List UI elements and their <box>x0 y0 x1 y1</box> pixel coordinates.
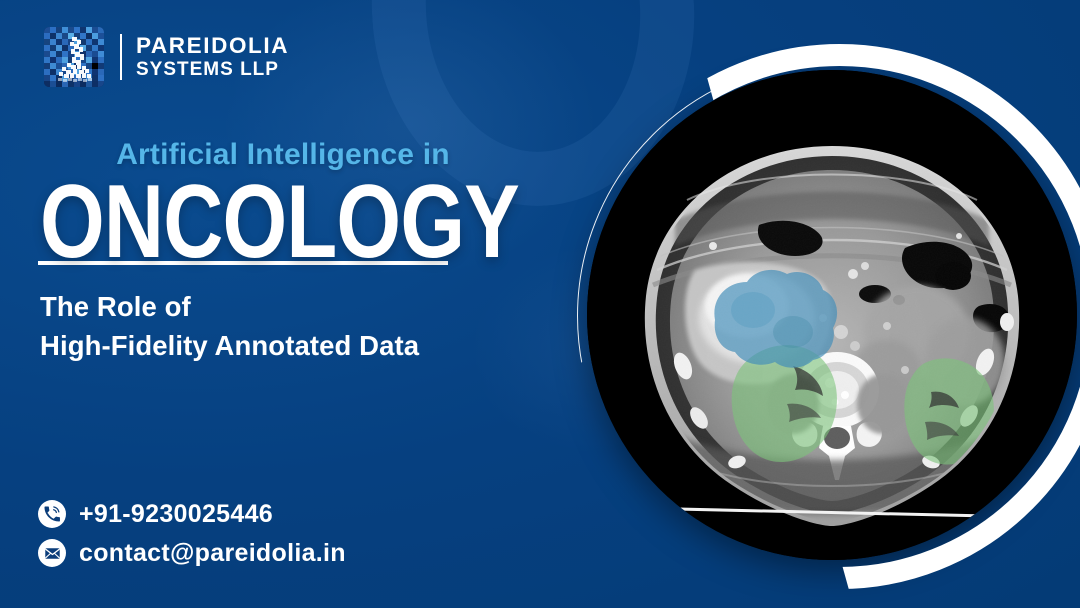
email-icon <box>38 539 66 567</box>
contact-block: +91-9230025446 contact@pareidolia.in <box>38 500 346 578</box>
ct-scan-image <box>587 70 1077 560</box>
ct-scan-disc <box>587 70 1077 560</box>
page-title: ONCOLOGY <box>40 178 416 267</box>
pareidolia-pixel-mosaic-logo-icon <box>44 27 104 87</box>
brand-logo[interactable]: PAREIDOLIA SYSTEMS LLP <box>44 27 289 87</box>
contact-email-row[interactable]: contact@pareidolia.in <box>38 539 346 567</box>
poster-canvas: PAREIDOLIA SYSTEMS LLP Artificial Intell… <box>0 0 1080 608</box>
subtitle-line-2: High-Fidelity Annotated Data <box>40 326 510 365</box>
contact-phone-row[interactable]: +91-9230025446 <box>38 500 346 528</box>
brand-subname: SYSTEMS LLP <box>136 59 289 81</box>
headline-block: Artificial Intelligence in ONCOLOGY The … <box>40 140 510 366</box>
email-address: contact@pareidolia.in <box>79 541 346 566</box>
ct-scan-figure <box>555 52 1080 582</box>
phone-number: +91-9230025446 <box>79 502 273 527</box>
headline-subtitle: The Role of High-Fidelity Annotated Data <box>40 287 510 365</box>
brand-name: PAREIDOLIA <box>136 33 289 59</box>
subtitle-line-1: The Role of <box>40 287 510 326</box>
brand-wordmark: PAREIDOLIA SYSTEMS LLP <box>136 33 289 81</box>
phone-icon <box>38 500 66 528</box>
logo-divider <box>120 34 122 80</box>
